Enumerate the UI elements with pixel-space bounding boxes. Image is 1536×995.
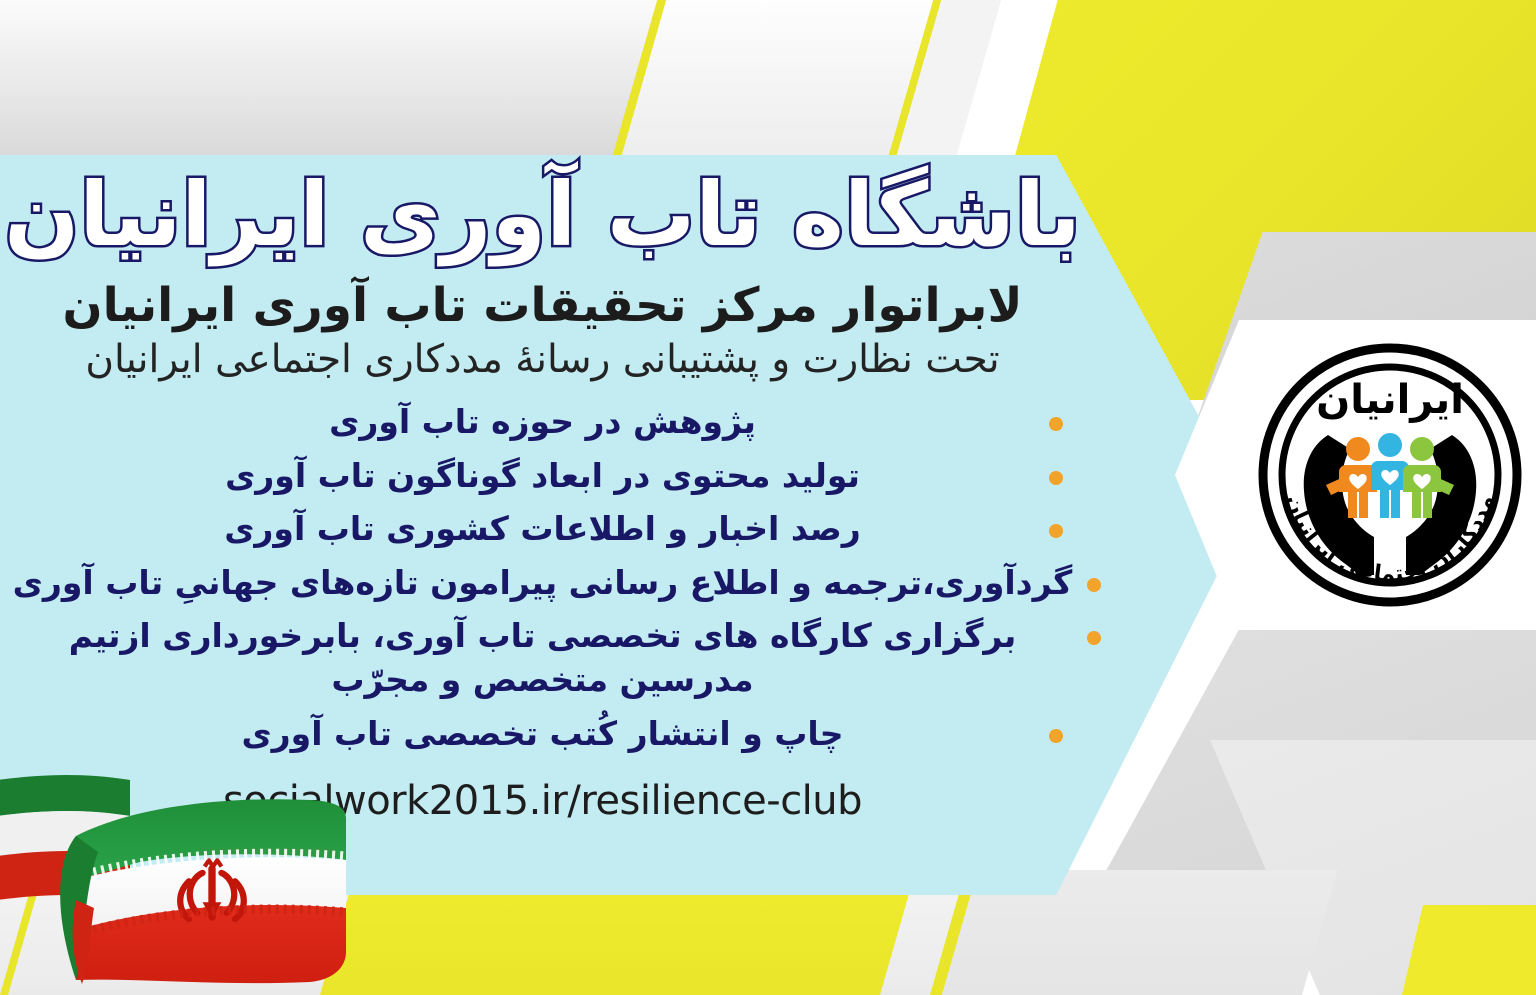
list-item: گردآوری،ترجمه و اطلاع رسانی پیرامون تازه…	[8, 561, 1077, 605]
page-title: باشگاه تاب آوری ایرانیان	[0, 155, 1085, 261]
list-item-label: تولید محتوی در ابعاد گوناگون تاب آوری	[225, 456, 860, 495]
bullet-dot-icon	[1049, 471, 1063, 485]
list-item-label: گردآوری،ترجمه و اطلاع رسانی پیرامون تازه…	[13, 563, 1073, 602]
logo-panel: ایرانیان	[1175, 320, 1536, 630]
bullet-dot-icon	[1087, 578, 1101, 592]
poster-canvas: ایرانیان	[0, 0, 1536, 995]
poster-content: باشگاه تاب آوری ایرانیان لابراتوار مرکز …	[0, 155, 1085, 895]
list-item: چاپ و انتشار کُتب تخصصی تاب آوری	[46, 712, 1039, 756]
list-item: تولید محتوی در ابعاد گوناگون تاب آوری	[46, 454, 1039, 498]
logo-top-text: ایرانیان	[1316, 377, 1464, 423]
bullet-dot-icon	[1049, 729, 1063, 743]
organization-logo: ایرانیان	[1256, 341, 1524, 609]
subtitle-secondary: تحت نظارت و پشتیبانی رسانهٔ مددکاری اجتم…	[0, 337, 1085, 384]
list-item: رصد اخبار و اطلاعات کشوری تاب آوری	[46, 507, 1039, 551]
list-item-label: برگزاری کارگاه های تخصصی تاب آوری، بابرخ…	[69, 616, 1017, 699]
list-item: پژوهش در حوزه تاب آوری	[46, 400, 1039, 444]
list-item-label: پژوهش در حوزه تاب آوری	[329, 402, 756, 441]
list-item-label: چاپ و انتشار کُتب تخصصی تاب آوری	[241, 714, 843, 753]
bullet-dot-icon	[1049, 417, 1063, 431]
bullet-dot-icon	[1049, 524, 1063, 538]
list-item-label: رصد اخبار و اطلاعات کشوری تاب آوری	[224, 509, 861, 548]
subtitle-primary: لابراتوار مرکز تحقیقات تاب آوری ایرانیان	[0, 279, 1085, 333]
list-item: برگزاری کارگاه های تخصصی تاب آوری، بابرخ…	[8, 614, 1077, 701]
website-url[interactable]: socialwork2015.ir/resilience-club	[0, 781, 1085, 821]
services-list: پژوهش در حوزه تاب آوری تولید محتوی در اب…	[0, 400, 1085, 755]
